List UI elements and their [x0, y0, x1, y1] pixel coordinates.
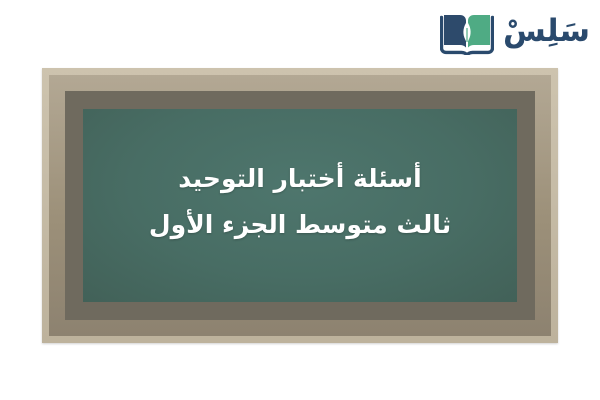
board-title-line-1: أسئلة أختبار التوحيد — [99, 161, 501, 197]
board-frame-inner: أسئلة أختبار التوحيد ثالث متوسط الجزء ال… — [49, 75, 551, 336]
board-title-line-2: ثالث متوسط الجزء الأول — [99, 207, 501, 243]
chalkboard: أسئلة أختبار التوحيد ثالث متوسط الجزء ال… — [42, 68, 558, 343]
board-text-block: أسئلة أختبار التوحيد ثالث متوسط الجزء ال… — [83, 161, 517, 244]
brand-logo[interactable]: سَلِسْ — [440, 8, 590, 56]
open-book-icon — [440, 9, 494, 55]
board-frame-lip: أسئلة أختبار التوحيد ثالث متوسط الجزء ال… — [65, 91, 535, 320]
brand-name: سَلِسْ — [503, 16, 590, 49]
board-frame-outer: أسئلة أختبار التوحيد ثالث متوسط الجزء ال… — [42, 68, 558, 343]
board-surface: أسئلة أختبار التوحيد ثالث متوسط الجزء ال… — [83, 109, 517, 302]
